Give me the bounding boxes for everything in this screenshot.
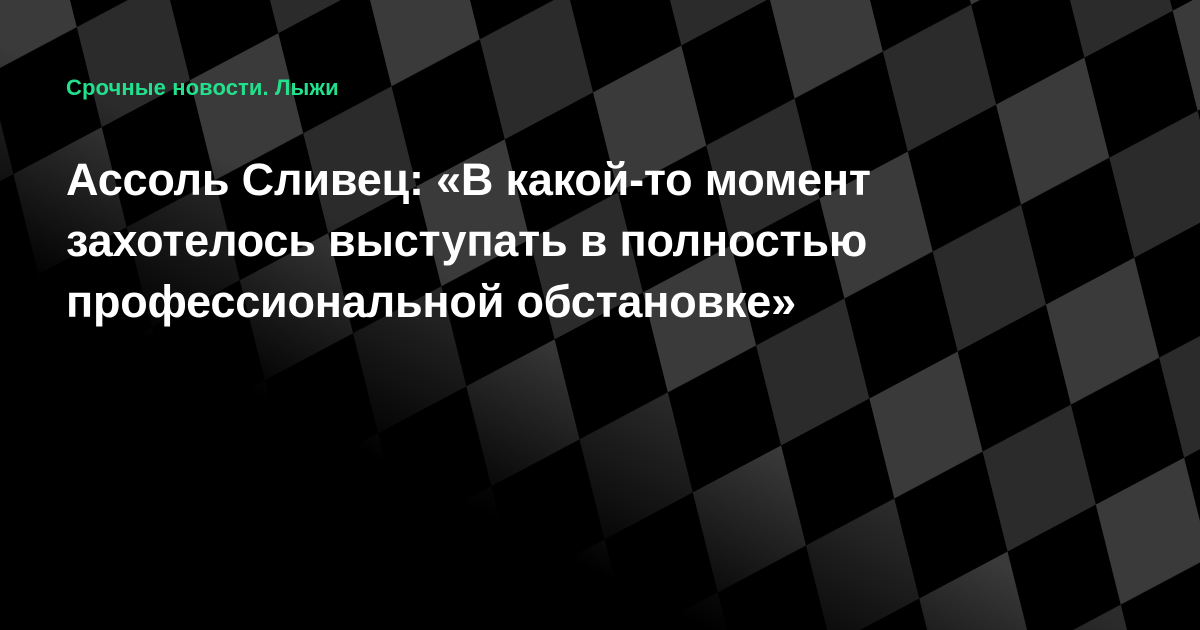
page-title: Ассоль Сливец: «В какой-то момент захоте…	[66, 149, 971, 332]
kicker-category-label: Срочные новости. Лыжи	[66, 74, 1200, 102]
headline-line-3: профессиональной обстановке»	[66, 271, 971, 332]
news-share-card: Срочные новости. Лыжи Ассоль Сливец: «В …	[0, 0, 1200, 630]
headline-line-1: Ассоль Сливец: «В какой-то момент	[66, 149, 971, 210]
card-content: Срочные новости. Лыжи Ассоль Сливец: «В …	[0, 0, 1200, 332]
headline-line-2: захотелось выступать в полностью	[66, 210, 971, 271]
